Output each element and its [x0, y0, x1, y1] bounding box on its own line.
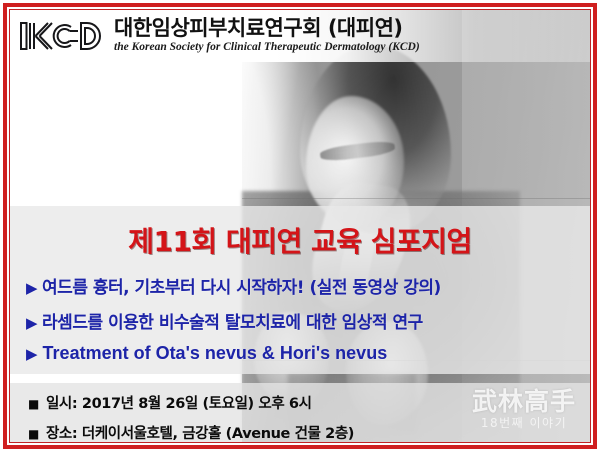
- triangle-bullet-icon: ▶: [26, 347, 38, 362]
- poster-inner-border: 대한임상피부치료연구회 (대피연) the Korean Society for…: [9, 9, 591, 443]
- photo-seam-upper: [242, 198, 590, 199]
- event-venue-row: ■ 장소: 더케이서울호텔, 금강홀 (Avenue 건물 2층): [28, 422, 590, 443]
- kcd-logo-icon: [19, 19, 107, 53]
- event-date-row: ■ 일시: 2017년 8월 26일 (토요일) 오후 6시: [28, 392, 590, 413]
- society-name-block: 대한임상피부치료연구회 (대피연) the Korean Society for…: [114, 18, 420, 54]
- main-content-panel: 제11회 대피연 교육 심포지엄 ▶ 여드름 흉터, 기초부터 다시 시작하자!…: [10, 206, 590, 374]
- poster-header: 대한임상피부치료연구회 (대피연) the Korean Society for…: [10, 10, 590, 62]
- square-bullet-icon: ■: [28, 428, 39, 440]
- symposium-poster: 대한임상피부치료연구회 (대피연) the Korean Society for…: [0, 0, 600, 452]
- session-item-1: ▶ 여드름 흉터, 기초부터 다시 시작하자! (실전 동영상 강의): [26, 273, 590, 298]
- session-item-3-label: Treatment of Ota's nevus & Hori's nevus: [43, 343, 388, 364]
- society-name-korean: 대한임상피부치료연구회 (대피연): [114, 18, 420, 39]
- event-venue-text: 장소: 더케이서울호텔, 금강홀 (Avenue 건물 2층): [46, 422, 354, 443]
- session-item-1-label: 여드름 흉터, 기초부터 다시 시작하자! (실전 동영상 강의): [42, 273, 441, 298]
- session-item-2: ▶ 라셈드를 이용한 비수술적 탈모치료에 대한 임상적 연구: [26, 308, 590, 333]
- session-item-2-label: 라셈드를 이용한 비수술적 탈모치료에 대한 임상적 연구: [42, 308, 423, 333]
- triangle-bullet-icon: ▶: [26, 316, 37, 331]
- event-date-text: 일시: 2017년 8월 26일 (토요일) 오후 6시: [46, 392, 312, 413]
- poster-title: 제11회 대피연 교육 심포지엄: [10, 206, 590, 260]
- square-bullet-icon: ■: [28, 398, 39, 410]
- session-item-3: ▶ Treatment of Ota's nevus & Hori's nevu…: [26, 343, 590, 364]
- triangle-bullet-icon: ▶: [26, 281, 37, 296]
- society-name-english: the Korean Society for Clinical Therapeu…: [114, 42, 420, 54]
- session-list: ▶ 여드름 흉터, 기초부터 다시 시작하자! (실전 동영상 강의) ▶ 라셈…: [10, 260, 590, 364]
- poster-outer-border: 대한임상피부치료연구회 (대피연) the Korean Society for…: [3, 3, 597, 449]
- event-info-panel: ■ 일시: 2017년 8월 26일 (토요일) 오후 6시 ■ 장소: 더케이…: [10, 383, 590, 442]
